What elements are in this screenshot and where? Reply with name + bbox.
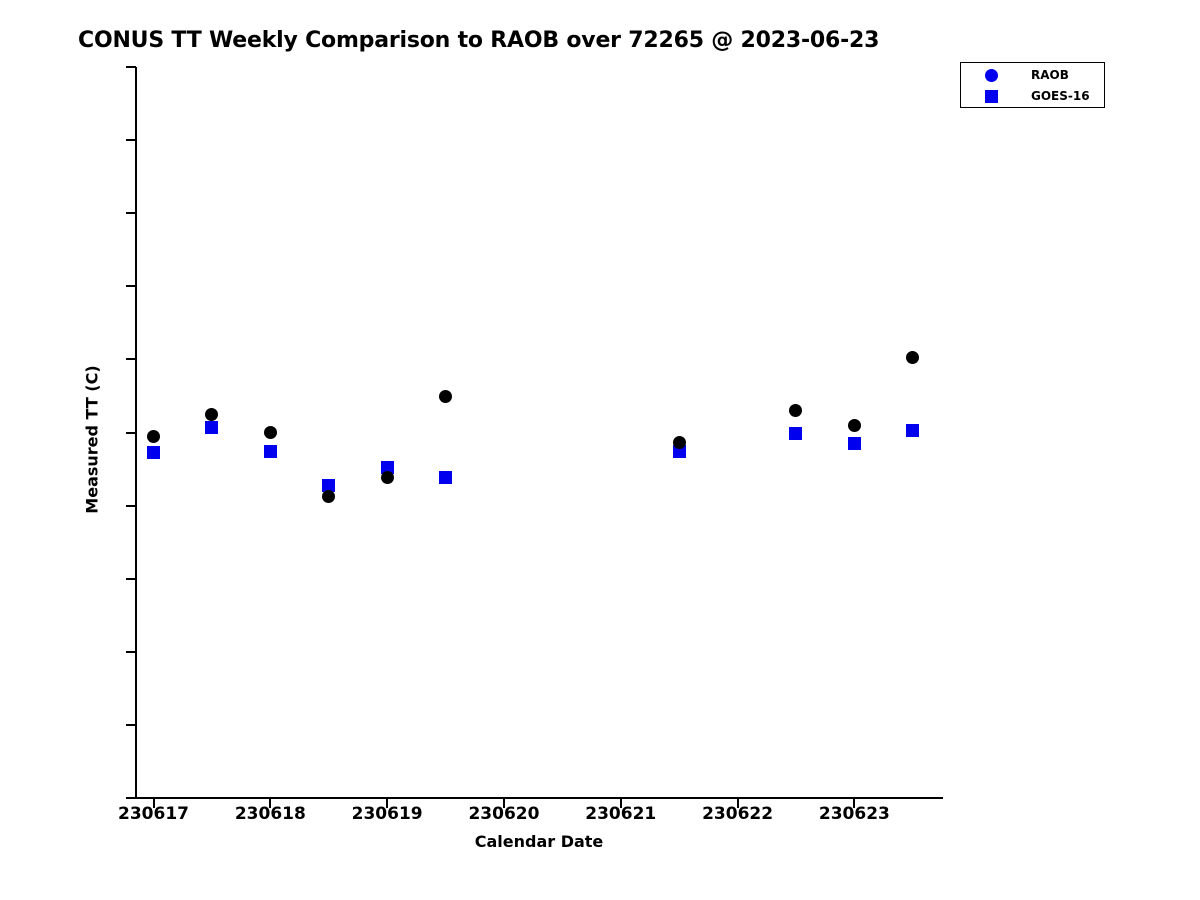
y-tick — [126, 578, 136, 580]
data-point-goes-16 — [205, 421, 218, 434]
y-tick — [126, 212, 136, 214]
legend-item-goes16[interactable]: GOES-16 — [961, 86, 1104, 107]
legend-marker-goes16 — [971, 86, 1011, 107]
legend-marker-raob — [971, 65, 1011, 86]
data-point-raob — [205, 408, 218, 421]
data-point-raob — [673, 436, 686, 449]
data-point-goes-16 — [848, 437, 861, 450]
chart-figure: CONUS TT Weekly Comparison to RAOB over … — [0, 0, 1200, 900]
circle-icon — [985, 69, 998, 82]
y-tick — [126, 797, 136, 799]
y-tick — [126, 724, 136, 726]
legend-label-raob: RAOB — [1031, 68, 1069, 82]
y-tick — [126, 285, 136, 287]
y-tick — [126, 651, 136, 653]
data-point-raob — [147, 430, 160, 443]
data-point-raob — [848, 419, 861, 432]
data-point-raob — [322, 490, 335, 503]
data-point-goes-16 — [789, 427, 802, 440]
y-tick — [126, 66, 136, 68]
legend-item-raob[interactable]: RAOB — [961, 65, 1104, 86]
data-point-raob — [381, 471, 394, 484]
chart-title: CONUS TT Weekly Comparison to RAOB over … — [78, 28, 879, 53]
y-axis-label: Measured TT (C) — [83, 340, 102, 540]
y-tick — [126, 432, 136, 434]
data-point-goes-16 — [906, 424, 919, 437]
chart-legend: RAOB GOES-16 — [960, 62, 1105, 108]
data-point-raob — [439, 390, 452, 403]
data-point-goes-16 — [147, 446, 160, 459]
data-point-raob — [906, 351, 919, 364]
data-point-raob — [264, 426, 277, 439]
y-tick — [126, 505, 136, 507]
legend-label-goes16: GOES-16 — [1031, 89, 1090, 103]
y-tick — [126, 139, 136, 141]
data-point-raob — [789, 404, 802, 417]
y-tick — [126, 358, 136, 360]
x-tick-label: 230623 — [784, 804, 924, 824]
x-axis-label: Calendar Date — [0, 832, 1078, 851]
plot-area — [136, 67, 942, 798]
data-point-goes-16 — [264, 445, 277, 458]
square-icon — [985, 90, 998, 103]
data-point-goes-16 — [439, 471, 452, 484]
